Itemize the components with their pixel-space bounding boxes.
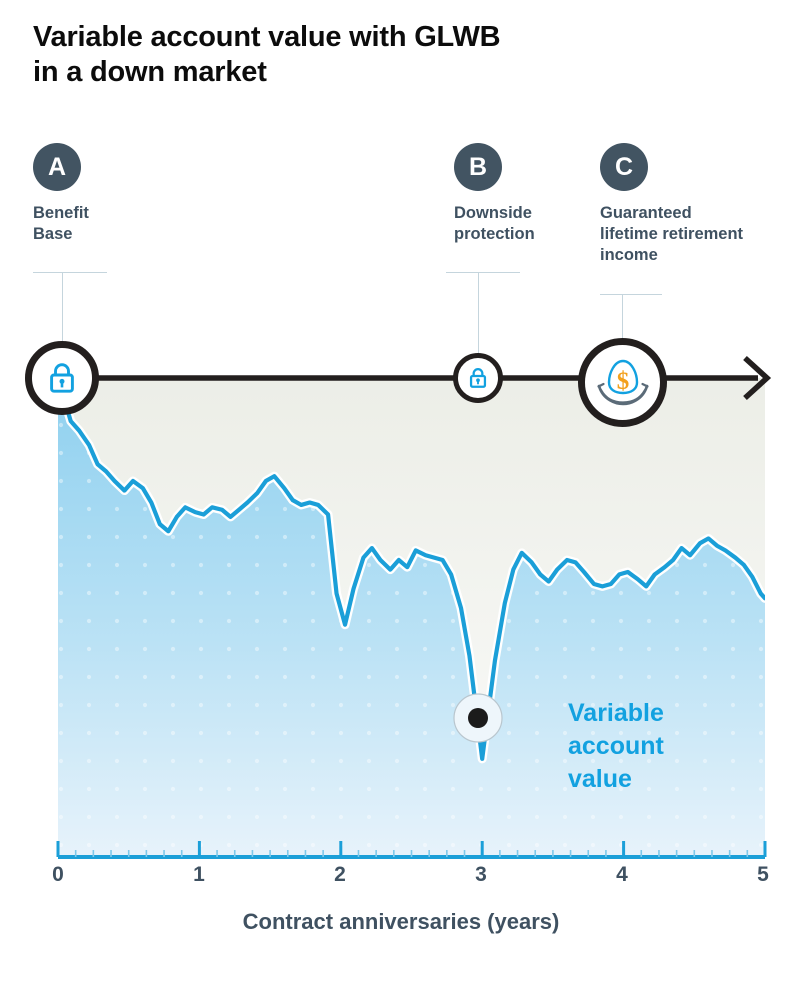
x-tick-label-1: 1 (179, 863, 219, 887)
x-axis-caption: Contract anniversaries (years) (0, 909, 802, 935)
x-tick-label-2: 2 (320, 863, 360, 887)
svg-text:$: $ (616, 368, 629, 395)
series-label: Variable account value (568, 697, 664, 796)
x-tick-label-5: 5 (743, 863, 783, 887)
lock-icon (47, 362, 77, 394)
variable-account-value-chart (0, 0, 802, 989)
x-tick-label-3: 3 (461, 863, 501, 887)
low-point-marker (454, 694, 502, 742)
marker-b-ring (453, 353, 503, 403)
infographic-root: Variable account value with GLWB in a do… (0, 0, 802, 989)
lock-icon (468, 367, 488, 389)
x-tick-label-0: 0 (38, 863, 78, 887)
nest-egg-icon: $ (594, 357, 652, 409)
marker-a-ring (25, 341, 99, 415)
marker-c-ring: $ (578, 338, 667, 427)
x-tick-label-4: 4 (602, 863, 642, 887)
